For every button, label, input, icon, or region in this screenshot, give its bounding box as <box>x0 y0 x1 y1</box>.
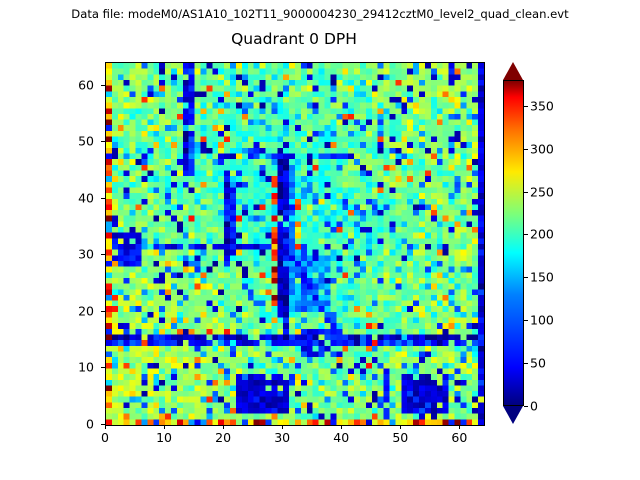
colorbar <box>503 62 524 424</box>
y-tick-label: 10 <box>78 360 94 375</box>
x-tick <box>223 425 224 429</box>
y-tick-label: 40 <box>78 190 94 205</box>
colorbar-tick-label: 150 <box>530 270 554 285</box>
colorbar-tick-label: 200 <box>530 227 554 242</box>
x-tick <box>164 425 165 429</box>
x-tick-label: 0 <box>101 430 109 445</box>
y-tick-label: 50 <box>78 134 94 149</box>
colorbar-tick <box>524 192 528 193</box>
heatmap-axes <box>105 62 485 426</box>
colorbar-under-arrow <box>503 406 523 424</box>
colorbar-tick-label: 350 <box>530 98 554 113</box>
colorbar-tick-label: 100 <box>530 313 554 328</box>
colorbar-tick-label: 300 <box>530 141 554 156</box>
colorbar-tick-label: 50 <box>530 356 546 371</box>
x-tick <box>282 425 283 429</box>
colorbar-tick <box>524 320 528 321</box>
colorbar-tick <box>524 363 528 364</box>
y-tick-label: 20 <box>78 303 94 318</box>
colorbar-tick-label: 250 <box>530 184 554 199</box>
colorbar-tick <box>524 277 528 278</box>
y-tick-label: 0 <box>86 417 94 432</box>
y-tick <box>101 85 105 86</box>
page-title: Quadrant 0 DPH <box>105 30 483 48</box>
y-tick <box>101 141 105 142</box>
colorbar-tick <box>524 234 528 235</box>
colorbar-tick-label: 0 <box>530 399 538 414</box>
x-tick <box>105 425 106 429</box>
data-file-suptitle: Data file: modeM0/AS1A10_102T11_90000042… <box>0 7 640 21</box>
colorbar-gradient <box>503 80 524 406</box>
x-tick <box>459 425 460 429</box>
colorbar-tick <box>524 149 528 150</box>
colorbar-tick <box>524 106 528 107</box>
x-tick-label: 10 <box>156 430 172 445</box>
heatmap-image <box>106 63 484 425</box>
x-tick-label: 60 <box>451 430 467 445</box>
y-tick <box>101 198 105 199</box>
x-tick-label: 50 <box>392 430 408 445</box>
matplotlib-figure: Data file: modeM0/AS1A10_102T11_90000042… <box>0 0 640 480</box>
colorbar-over-arrow <box>503 62 523 80</box>
y-tick <box>101 311 105 312</box>
y-tick <box>101 367 105 368</box>
x-tick <box>400 425 401 429</box>
colorbar-tick <box>524 406 528 407</box>
x-tick <box>341 425 342 429</box>
x-tick-label: 20 <box>215 430 231 445</box>
y-tick-label: 60 <box>78 77 94 92</box>
y-tick <box>101 254 105 255</box>
y-tick <box>101 424 105 425</box>
x-tick-label: 30 <box>274 430 290 445</box>
y-tick-label: 30 <box>78 247 94 262</box>
x-tick-label: 40 <box>333 430 349 445</box>
